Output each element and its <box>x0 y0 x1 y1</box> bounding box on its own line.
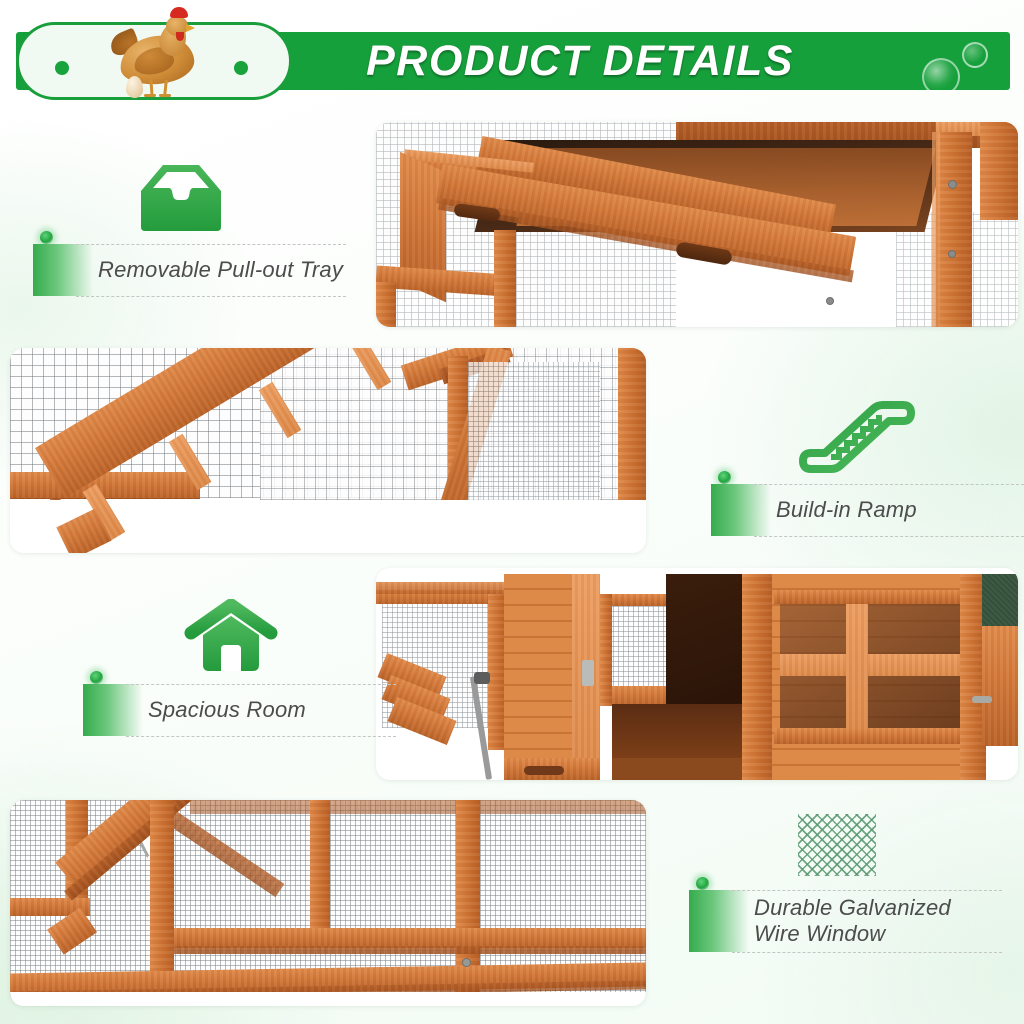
accent-dot-icon <box>40 231 53 244</box>
house-icon <box>66 592 396 684</box>
photo-wire-window <box>10 800 646 1006</box>
feature-label: Build-in Ramp <box>776 484 1024 536</box>
photo-spacious-room <box>376 568 1018 780</box>
wire-mesh-icon <box>672 802 1002 888</box>
divider-bottom <box>754 536 1024 537</box>
divider-bottom <box>732 952 1002 953</box>
plate-hole-right-icon <box>231 58 251 78</box>
accent-dot-icon <box>696 877 709 890</box>
accent-dot-icon <box>90 671 103 684</box>
plate-hole-left-icon <box>52 58 72 78</box>
bubble-large-icon <box>922 58 960 96</box>
feature-label: Removable Pull-out Tray <box>98 244 348 296</box>
accent-dot-icon <box>718 471 731 484</box>
escalator-ramp-icon <box>694 392 1024 484</box>
tray-icon <box>16 152 346 244</box>
feature-label: Durable Galvanized Wire Window <box>754 890 1004 952</box>
accent-bar <box>83 684 143 736</box>
accent-bar <box>711 484 771 536</box>
divider-bottom <box>126 736 396 737</box>
bubble-small-icon <box>962 42 988 68</box>
accent-bar <box>33 244 93 296</box>
photo-build-in-ramp <box>10 348 646 553</box>
divider-bottom <box>76 296 346 297</box>
feature-label: Spacious Room <box>148 684 398 736</box>
egg-icon <box>126 76 143 98</box>
header-banner: PRODUCT DETAILS <box>0 22 1024 100</box>
chicken-icon <box>104 6 214 102</box>
page-title: PRODUCT DETAILS <box>280 32 880 90</box>
accent-bar <box>689 890 749 952</box>
photo-pull-out-tray <box>376 122 1018 327</box>
